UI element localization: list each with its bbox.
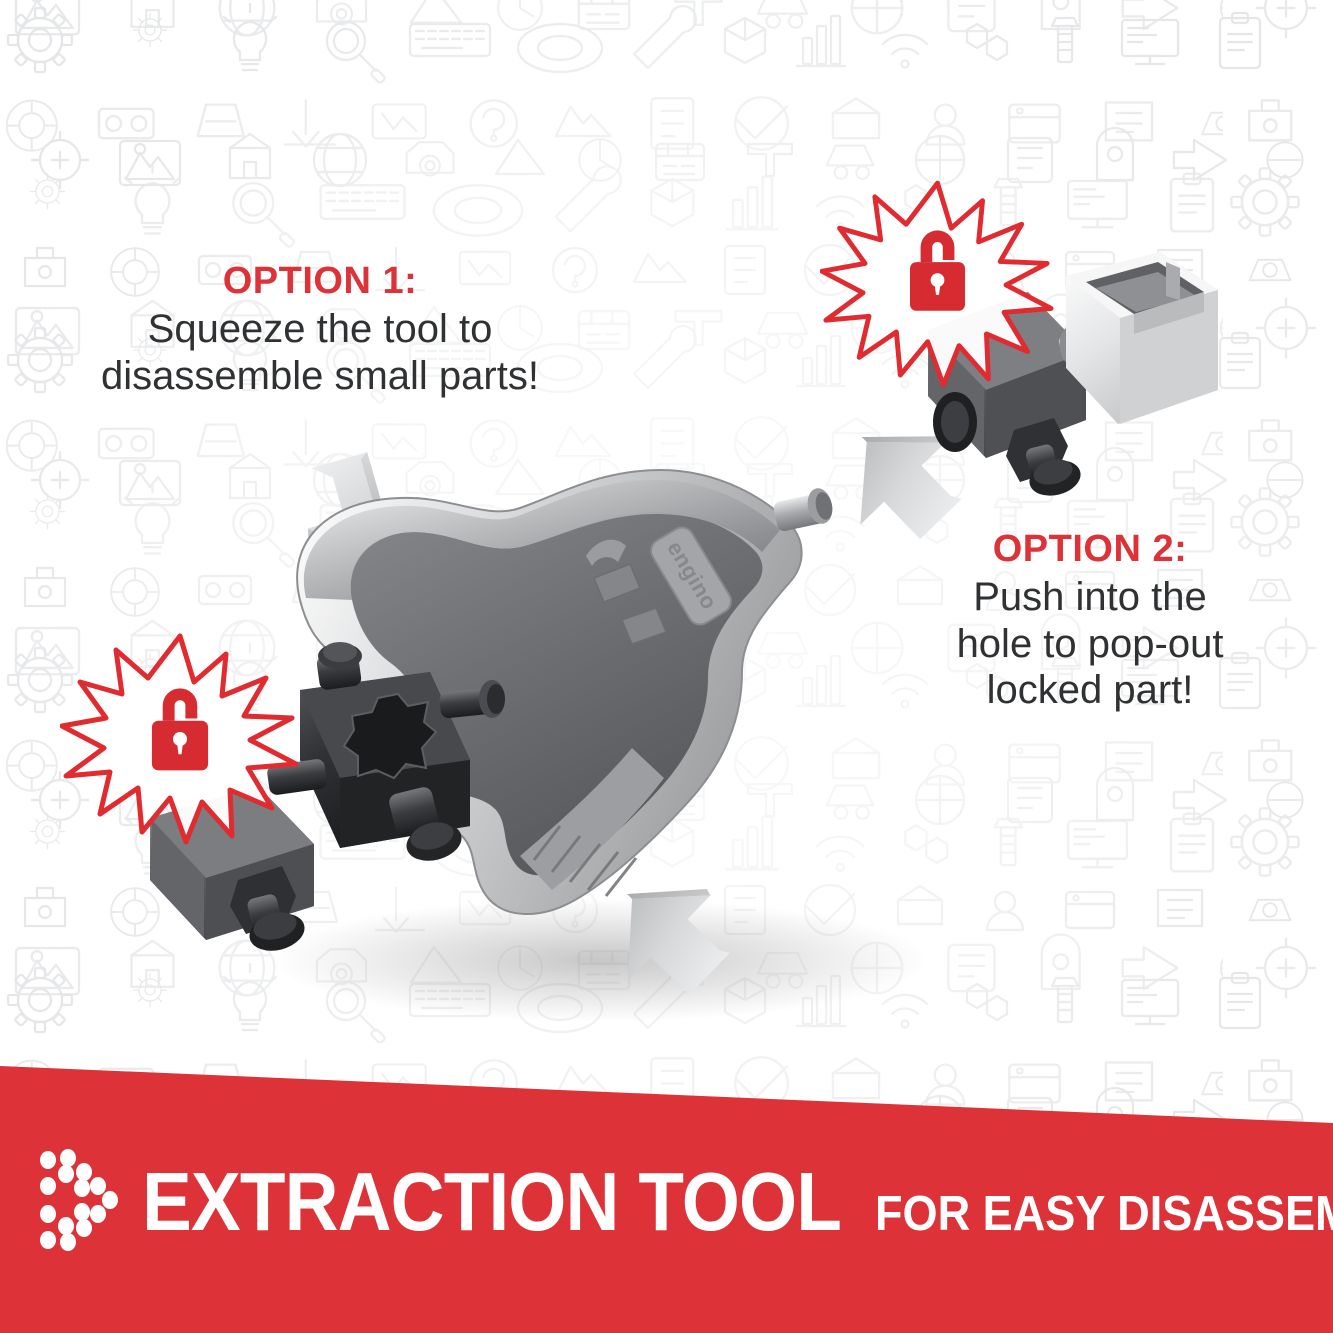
poster-root: engino [0, 0, 1333, 1333]
arrow-up-left-icon [584, 852, 751, 1019]
product-shadow [270, 898, 930, 1022]
hub-pin-bottom [387, 785, 465, 866]
cube-left-bolt [230, 866, 309, 956]
svg-text:engino: engino [662, 537, 722, 614]
option-2-heading: OPTION 2: [880, 530, 1300, 570]
option-1-body-line-1: Squeeze the tool to [0, 306, 640, 353]
bottom-banner: EXTRACTION TOOL FOR EASY DISASSEMBLY [0, 1048, 1333, 1333]
engino-badge: engino [647, 523, 736, 629]
hub-pin-right [439, 680, 505, 719]
black-connector-hub [266, 642, 505, 866]
option-2-body-line-2: hole to pop-out [880, 621, 1300, 668]
tool-grip-ribs [520, 748, 664, 896]
connector-cube-right-light [1066, 252, 1218, 424]
callout-option-2: OPTION 2: Push into the hole to pop-out … [880, 530, 1300, 714]
cube-right-socket [933, 392, 977, 452]
engino-dot-chevron-logo-icon [38, 1148, 120, 1252]
star-socket [344, 694, 436, 778]
extraction-tool-body: engino [297, 470, 802, 914]
option-2-body-line-1: Push into the [880, 574, 1300, 621]
tool-spigot [772, 486, 835, 532]
banner-subtitle: FOR EASY DISASSEMBLY [875, 1190, 1333, 1239]
hub-pin-top [316, 642, 362, 691]
option-1-heading: OPTION 1: [0, 262, 640, 302]
option-1-body-line-2: disassemble small parts! [0, 353, 640, 400]
callout-option-1: OPTION 1: Squeeze the tool to disassembl… [0, 262, 640, 399]
arrow-down-right-icon [292, 442, 433, 590]
banner-title: EXTRACTION TOOL [142, 1160, 841, 1243]
cube-right-peg [1055, 322, 1116, 372]
option-2-body-line-3: locked part! [880, 667, 1300, 714]
burst-left [60, 630, 300, 845]
burst-right [820, 175, 1055, 390]
cube-right-bolt [1006, 418, 1084, 501]
